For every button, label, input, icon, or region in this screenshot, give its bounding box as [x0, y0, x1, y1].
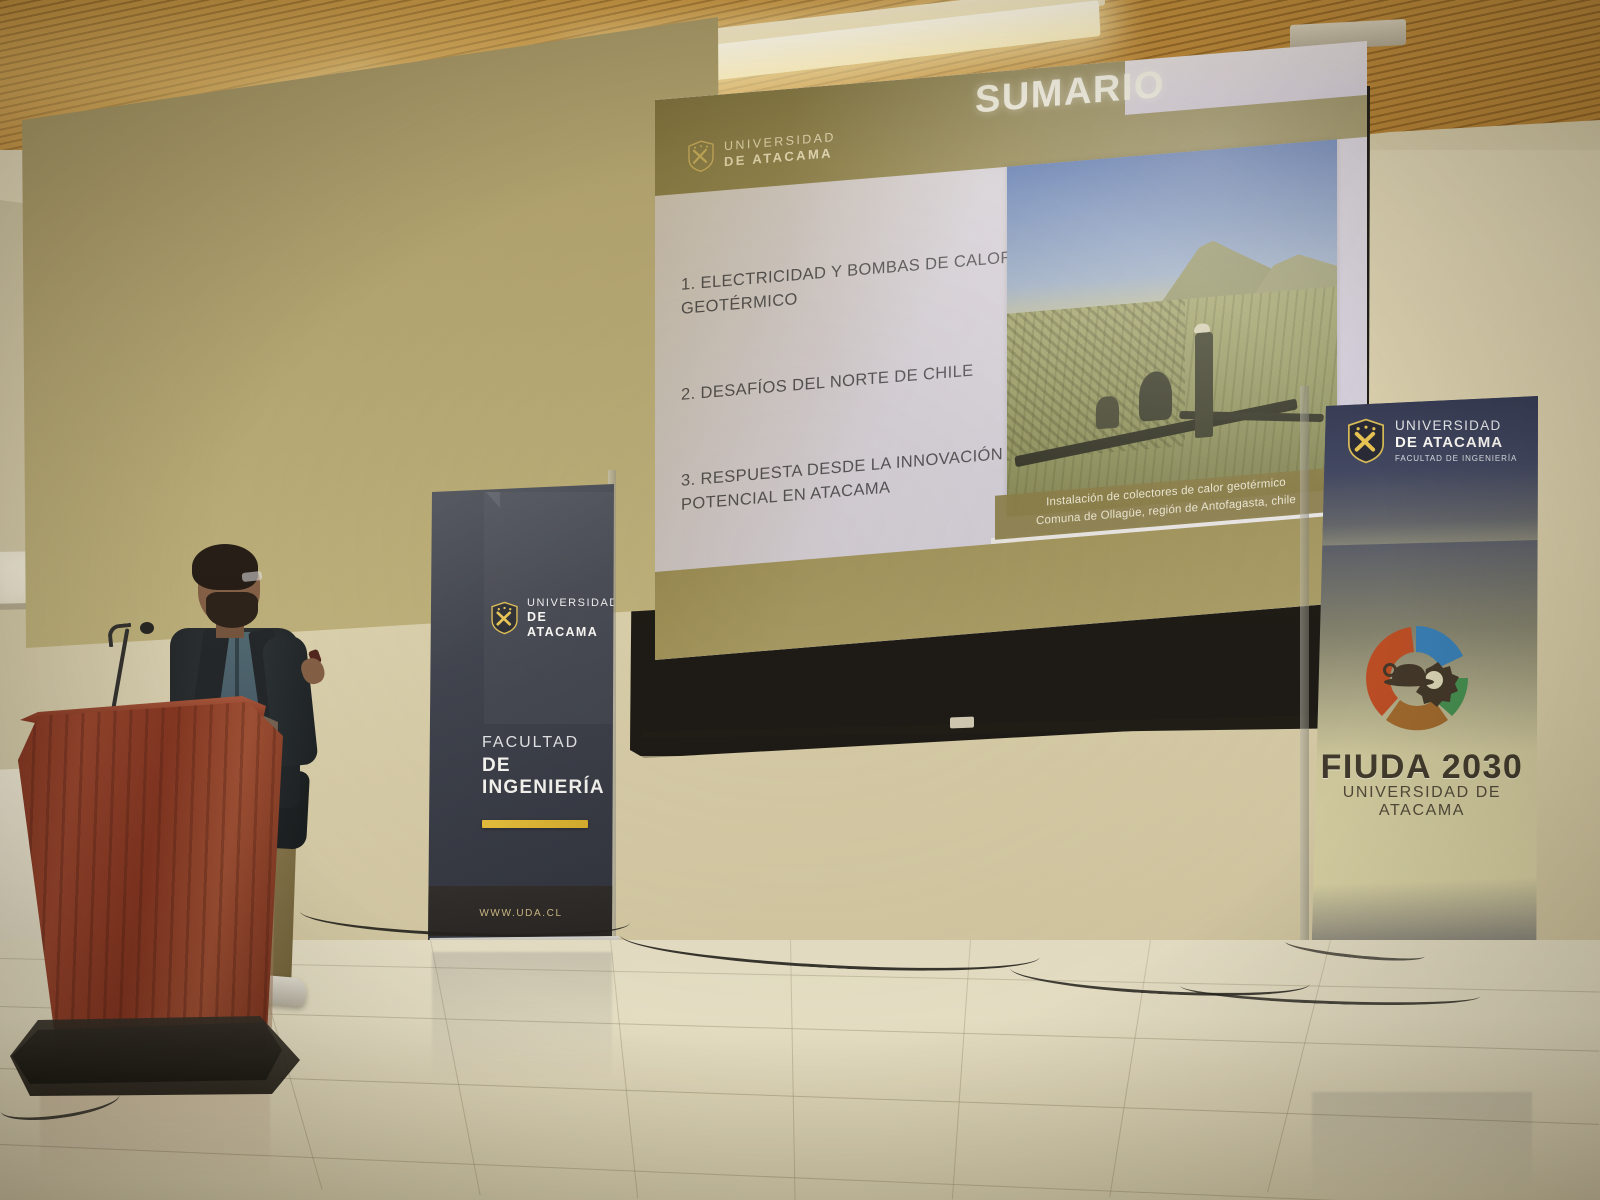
banner-uda-faculty: UNIVERSIDAD DE ATACAMA FACULTAD DE INGEN…	[428, 484, 614, 944]
banner-fiuda-title-block: FIUDA 2030 UNIVERSIDAD DE ATACAMA	[1308, 748, 1536, 820]
fiuda-subtitle: UNIVERSIDAD DE ATACAMA	[1308, 784, 1536, 820]
podium-base	[12, 1022, 282, 1084]
photo-worker-1	[1195, 332, 1213, 439]
slide-bullet-list: 1. ELECTRICIDAD Y BOMBAS DE CALOR GEOTÉR…	[681, 246, 1021, 580]
banner-right-line2: DE ATACAMA	[1395, 434, 1517, 451]
slide-bullet-1: 1. ELECTRICIDAD Y BOMBAS DE CALOR GEOTÉR…	[681, 246, 1021, 322]
banner-sheen	[428, 484, 614, 944]
uda-shield-icon	[687, 139, 715, 173]
slide-bullet-3: 3. RESPUESTA DESDE LA INNOVACIÓN Y POTEN…	[681, 441, 1021, 517]
banner-right-line1: UNIVERSIDAD	[1395, 419, 1517, 434]
speaker-beard	[206, 592, 258, 628]
projected-slide: SUMARIO UNIVERSIDAD DE ATACAMA 1. ELECTR…	[655, 41, 1367, 660]
wooden-podium	[18, 700, 283, 1060]
slide-bullet-2: 2. DESAFÍOS DEL NORTE DE CHILE	[681, 355, 1021, 407]
banner-right-uda-logo: UNIVERSIDAD DE ATACAMA FACULTAD DE INGEN…	[1346, 418, 1517, 464]
fiuda-wheel-logo-icon	[1356, 618, 1476, 738]
presentation-room-photo: SUMARIO UNIVERSIDAD DE ATACAMA 1. ELECTR…	[0, 0, 1600, 1200]
photo-worker-3	[1096, 395, 1119, 428]
banner-right-line3: FACULTAD DE INGENIERÍA	[1395, 454, 1517, 463]
fiuda-title: FIUDA 2030	[1308, 748, 1536, 787]
slide-photo	[1007, 139, 1337, 516]
microphone-gooseneck	[107, 623, 133, 647]
projection-screen-handle[interactable]	[950, 717, 974, 729]
uda-shield-icon	[1346, 418, 1386, 464]
speaker-hair	[192, 544, 258, 590]
microphone-head-icon	[140, 622, 154, 634]
photo-worker-2	[1139, 370, 1172, 422]
